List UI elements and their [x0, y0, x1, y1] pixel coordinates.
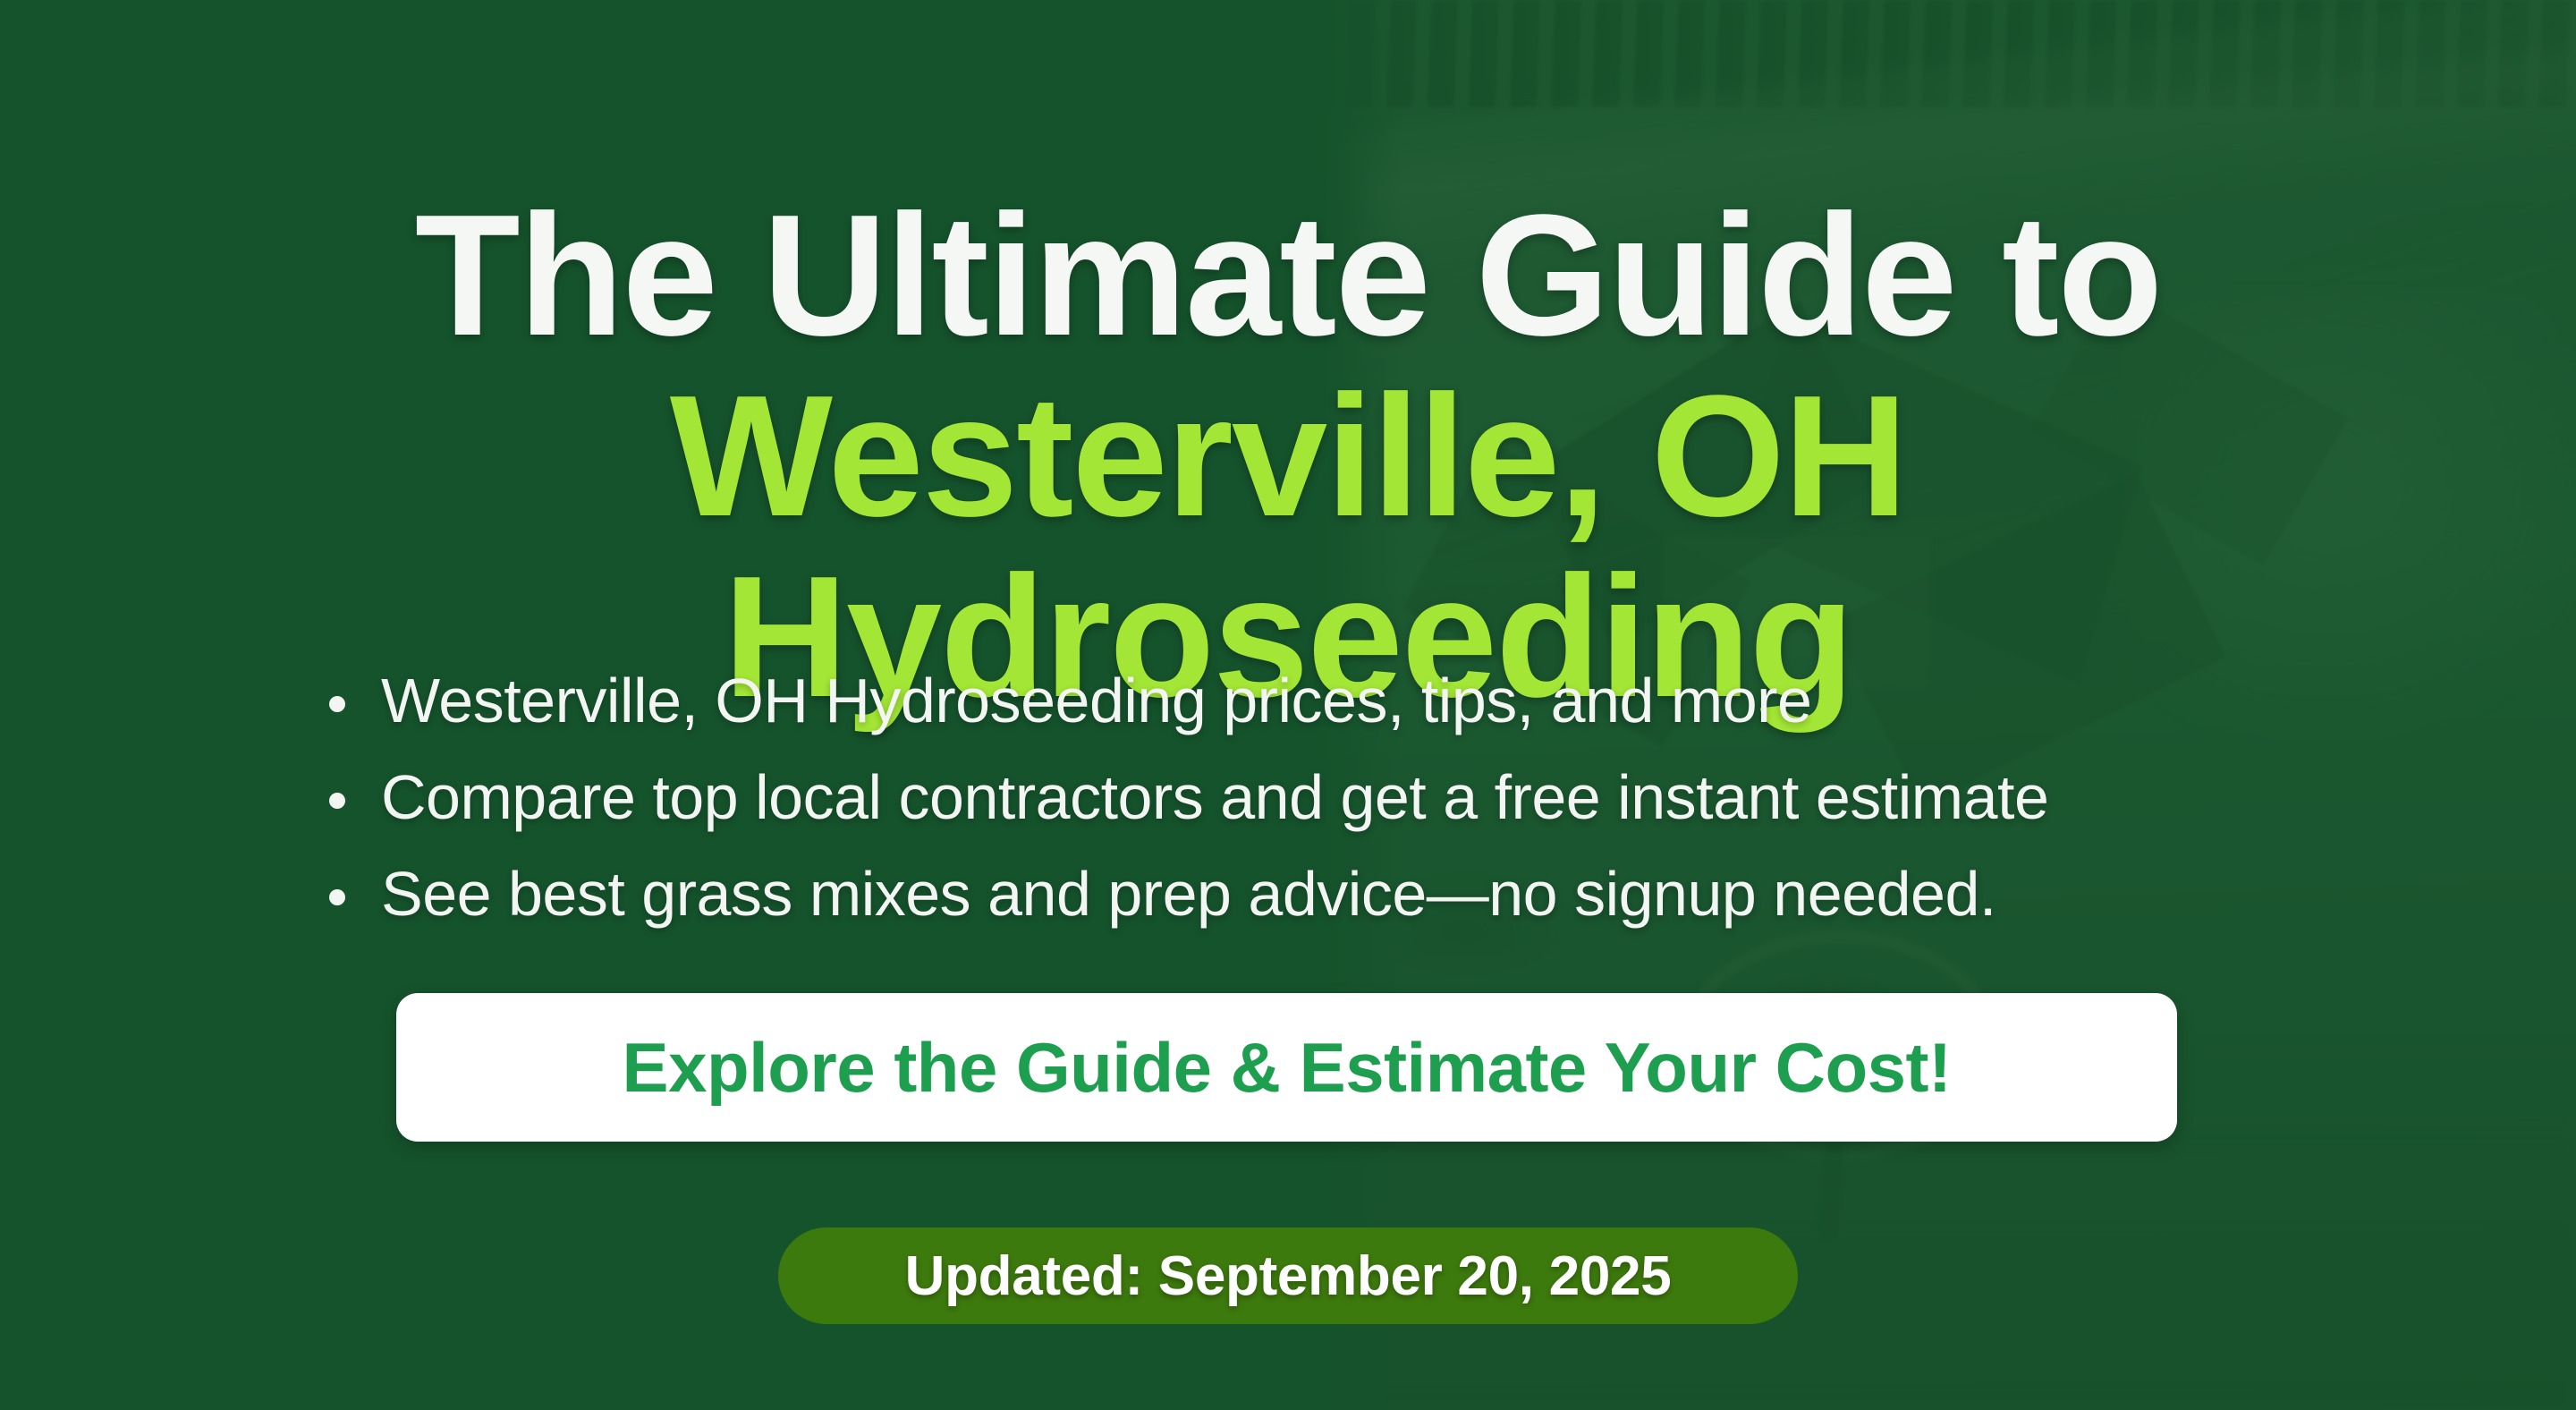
list-item: See best grass mixes and prep advice—no …	[322, 862, 2343, 925]
page-title: The Ultimate Guide to Westerville, OH Hy…	[0, 185, 2576, 726]
benefit-list: Westerville, OH Hydroseeding prices, tip…	[322, 669, 2343, 959]
hero-banner: The Ultimate Guide to Westerville, OH Hy…	[0, 0, 2576, 1410]
headline-line-2: Westerville, OH	[0, 366, 2576, 547]
list-item-label: See best grass mixes and prep advice—no …	[381, 859, 1996, 929]
bullet-dot-icon	[329, 793, 345, 809]
list-item: Westerville, OH Hydroseeding prices, tip…	[322, 669, 2343, 732]
last-updated-badge: Updated: September 20, 2025	[778, 1227, 1798, 1324]
list-item-label: Westerville, OH Hydroseeding prices, tip…	[381, 666, 1811, 735]
headline-line-1: The Ultimate Guide to	[0, 185, 2576, 366]
explore-guide-cta-button[interactable]: Explore the Guide & Estimate Your Cost!	[396, 993, 2177, 1142]
hero-content: The Ultimate Guide to Westerville, OH Hy…	[0, 0, 2576, 1410]
list-item: Compare top local contractors and get a …	[322, 766, 2343, 828]
bullet-dot-icon	[329, 889, 345, 905]
list-item-label: Compare top local contractors and get a …	[381, 762, 2048, 832]
bullet-dot-icon	[329, 696, 345, 712]
